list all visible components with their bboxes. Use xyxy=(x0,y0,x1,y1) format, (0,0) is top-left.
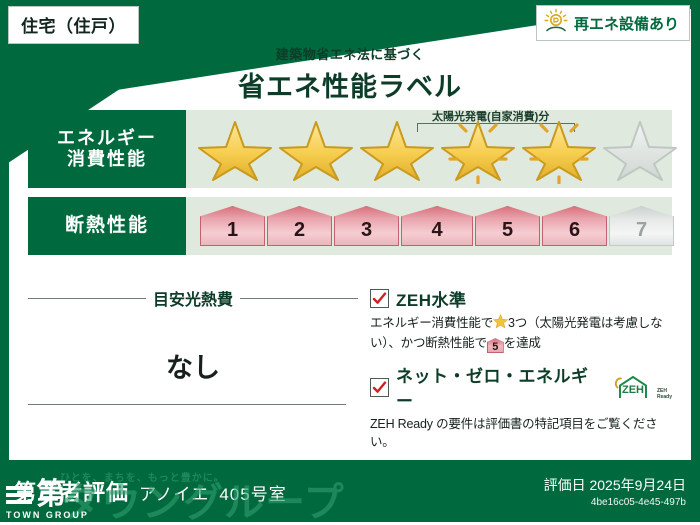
utility-cost-value: なし xyxy=(28,346,358,385)
insulation-level-4: 4 xyxy=(401,206,473,246)
room-number: 405号室 xyxy=(219,480,286,505)
solar-sun-icon xyxy=(543,8,569,39)
insulation-level-7: 7 xyxy=(609,206,674,246)
zeh-standard-header: ZEH水準 xyxy=(370,286,672,311)
performance-panel: エネルギー 消費性能 太陽光発電(自家消費)分 xyxy=(28,110,672,280)
utility-cost-title: 目安光熱費 xyxy=(153,286,233,310)
energy-performance-label: 住宅（住戸） 再エネ設備あり 建築物省エネ法に基づく 省エネ性 xyxy=(0,0,700,522)
zeh-standard-item: ZEH水準 エネルギー消費性能で3つ（太陽光発電は考慮しない）、かつ断熱性能で5… xyxy=(370,286,672,353)
insulation-label: 断熱性能 xyxy=(28,197,186,255)
insulation-scale-body: 1234567 xyxy=(186,197,674,255)
evaluation-date-label: 評価日 xyxy=(544,477,586,493)
zeh-standard-title: ZEH水準 xyxy=(396,286,467,311)
mini-star-icon xyxy=(493,314,508,334)
renewable-equipment-badge: 再エネ設備あり xyxy=(536,5,690,41)
zeh-desc-part3: を達成 xyxy=(504,336,541,350)
energy-label-line1: エネルギー xyxy=(57,128,157,149)
zeh-section: ZEH水準 エネルギー消費性能で3つ（太陽光発電は考慮しない）、かつ断熱性能で5… xyxy=(358,286,672,446)
energy-stars-body: 太陽光発電(自家消費)分 xyxy=(186,110,679,188)
cost-underline xyxy=(28,404,346,405)
dwelling-type-tag: 住宅（住戸） xyxy=(8,6,139,44)
check-icon xyxy=(372,291,387,306)
zeh-desc-part1: エネルギー消費性能で xyxy=(370,316,493,330)
net-zero-checkbox[interactable] xyxy=(370,378,389,397)
title-subtitle: 建築物省エネ法に基づく xyxy=(0,44,700,63)
insulation-scale: 1234567 xyxy=(196,206,674,246)
check-icon xyxy=(372,380,387,395)
net-zero-description: ZEH Ready の要件は評価書の特記項目をご覧ください。 xyxy=(370,415,672,451)
svg-text:ZEH: ZEH xyxy=(622,384,644,396)
energy-star-4 xyxy=(439,114,517,184)
zeh-ready-logo: ZEH ZEH Ready xyxy=(613,374,672,400)
net-zero-title: ネット・ゼロ・エネルギー xyxy=(396,362,603,412)
zeh-standard-checkbox[interactable] xyxy=(370,289,389,308)
zeh-standard-description: エネルギー消費性能で3つ（太陽光発電は考慮しない）、かつ断熱性能で5を達成 xyxy=(370,314,672,353)
energy-star-1 xyxy=(196,114,274,184)
cost-rule-left xyxy=(28,298,146,299)
evaluation-id: 4be16c05-4e45-497b xyxy=(544,497,686,508)
energy-consumption-row: エネルギー 消費性能 太陽光発電(自家消費)分 xyxy=(28,110,672,188)
net-zero-header: ネット・ゼロ・エネルギー ZEH ZEH Ready xyxy=(370,362,672,412)
footer-right: 評価日 2025年9月24日 4be16c05-4e45-497b xyxy=(544,475,700,508)
evaluation-date: 評価日 2025年9月24日 xyxy=(544,475,686,495)
energy-star-2 xyxy=(277,114,355,184)
net-zero-energy-item: ネット・ゼロ・エネルギー ZEH ZEH Ready ZEH Ready xyxy=(370,362,672,451)
insulation-level-2: 2 xyxy=(267,206,332,246)
footer-bar: 第三者評価 アノイエ 405号室 評価日 2025年9月24日 4be16c05… xyxy=(0,460,700,522)
zeh-logo-sub1: ZEH xyxy=(657,388,667,394)
insulation-row: 断熱性能 1234567 xyxy=(28,197,672,255)
energy-star-3 xyxy=(358,114,436,184)
zeh-logo-sub2: Ready xyxy=(657,394,672,400)
energy-star-5 xyxy=(520,114,598,184)
insulation-level-5: 5 xyxy=(475,206,540,246)
cost-rule-right xyxy=(240,298,358,299)
energy-star-6 xyxy=(601,114,679,184)
mini-insulation-badge: 5 xyxy=(487,338,504,353)
footer-left: 第三者評価 アノイエ 405号室 xyxy=(0,475,544,507)
insulation-level-1: 1 xyxy=(200,206,265,246)
energy-label-line2: 消費性能 xyxy=(67,149,147,170)
insulation-level-3: 3 xyxy=(334,206,399,246)
renewable-badge-label: 再エネ設備あり xyxy=(574,13,679,34)
utility-cost-box: 目安光熱費 なし xyxy=(28,286,358,446)
lower-section: 目安光熱費 なし ZEH水準 エネルギー消費性能で3つ（太陽光発電は考慮しない）… xyxy=(28,286,672,446)
zeh-house-icon: ZEH xyxy=(613,374,655,400)
evaluation-date-value: 2025年9月24日 xyxy=(589,477,686,493)
utility-cost-header: 目安光熱費 xyxy=(28,286,358,310)
third-party-eval-label: 第三者評価 xyxy=(14,475,129,507)
label-title: 建築物省エネ法に基づく 省エネ性能ラベル xyxy=(0,44,700,104)
energy-consumption-label: エネルギー 消費性能 xyxy=(28,110,186,188)
building-name: アノイエ xyxy=(139,480,209,505)
title-main: 省エネ性能ラベル xyxy=(0,65,700,104)
insulation-level-6: 6 xyxy=(542,206,607,246)
